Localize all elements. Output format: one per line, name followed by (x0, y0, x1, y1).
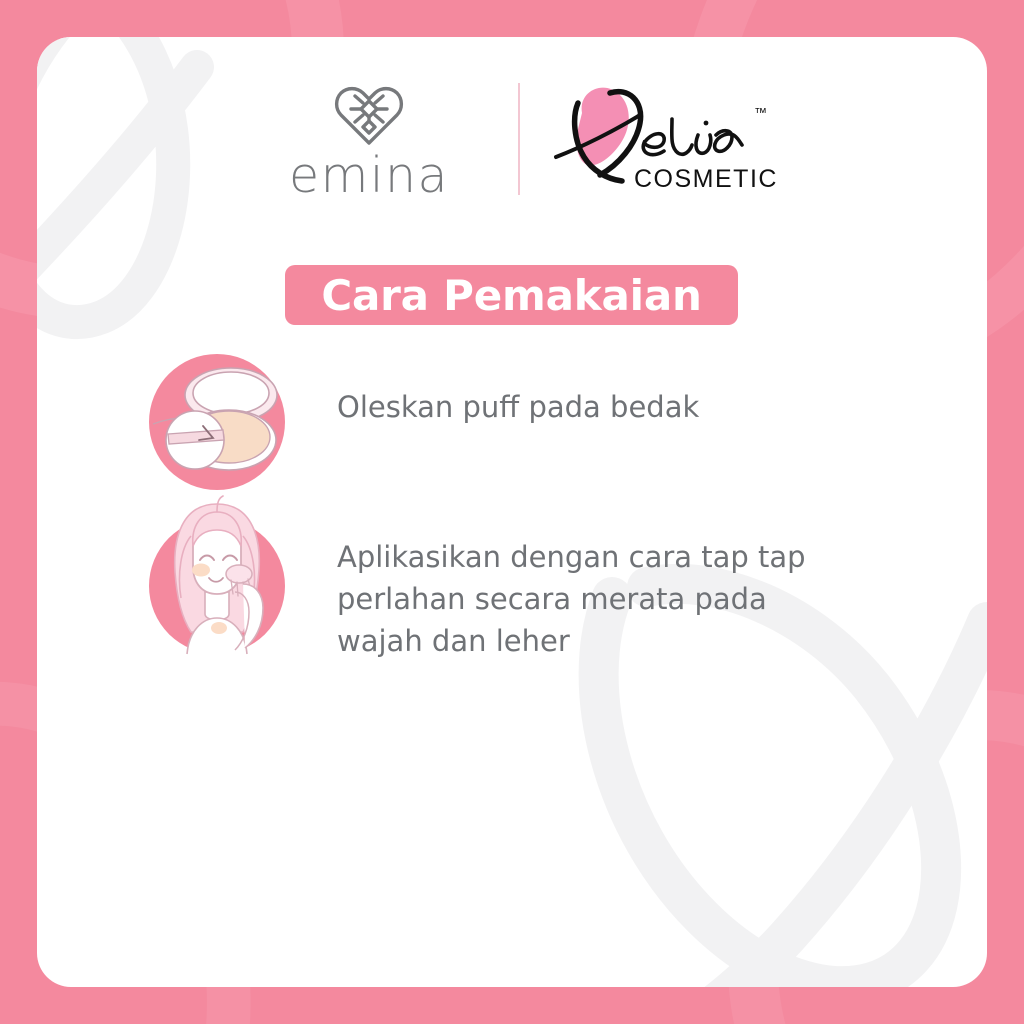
girl-applying-powder-with-puff-icon (147, 496, 287, 656)
emina-wordmark: emina (289, 151, 449, 200)
brand-logo-row: emina (37, 59, 987, 219)
belia-trademark: ™ (754, 105, 767, 120)
poster-root: emina (0, 0, 1024, 1024)
page-title: Cara Pemakaian (321, 271, 701, 320)
step-2-text: Aplikasikan dengan cara tap tap perlahan… (337, 514, 857, 662)
belia-logo-icon: ™ COSMETIC (548, 83, 780, 195)
belia-logo: ™ COSMETIC (548, 83, 780, 195)
list-item: Aplikasikan dengan cara tap tap perlahan… (147, 514, 937, 662)
usage-steps-list: Oleskan puff pada bedak (147, 352, 937, 684)
brand-divider (518, 83, 520, 195)
section-title-banner: Cara Pemakaian (285, 265, 738, 325)
compact-powder-with-puff-icon (147, 352, 287, 492)
step-2-figure (147, 514, 287, 654)
emina-heart-knot-icon (331, 79, 407, 147)
step-1-text: Oleskan puff pada bedak (337, 352, 699, 428)
step-1-figure (147, 352, 287, 492)
list-item: Oleskan puff pada bedak (147, 352, 937, 492)
content-card: emina (37, 37, 987, 987)
belia-cosmetic-label: COSMETIC (634, 165, 778, 193)
emina-logo: emina (244, 79, 494, 200)
